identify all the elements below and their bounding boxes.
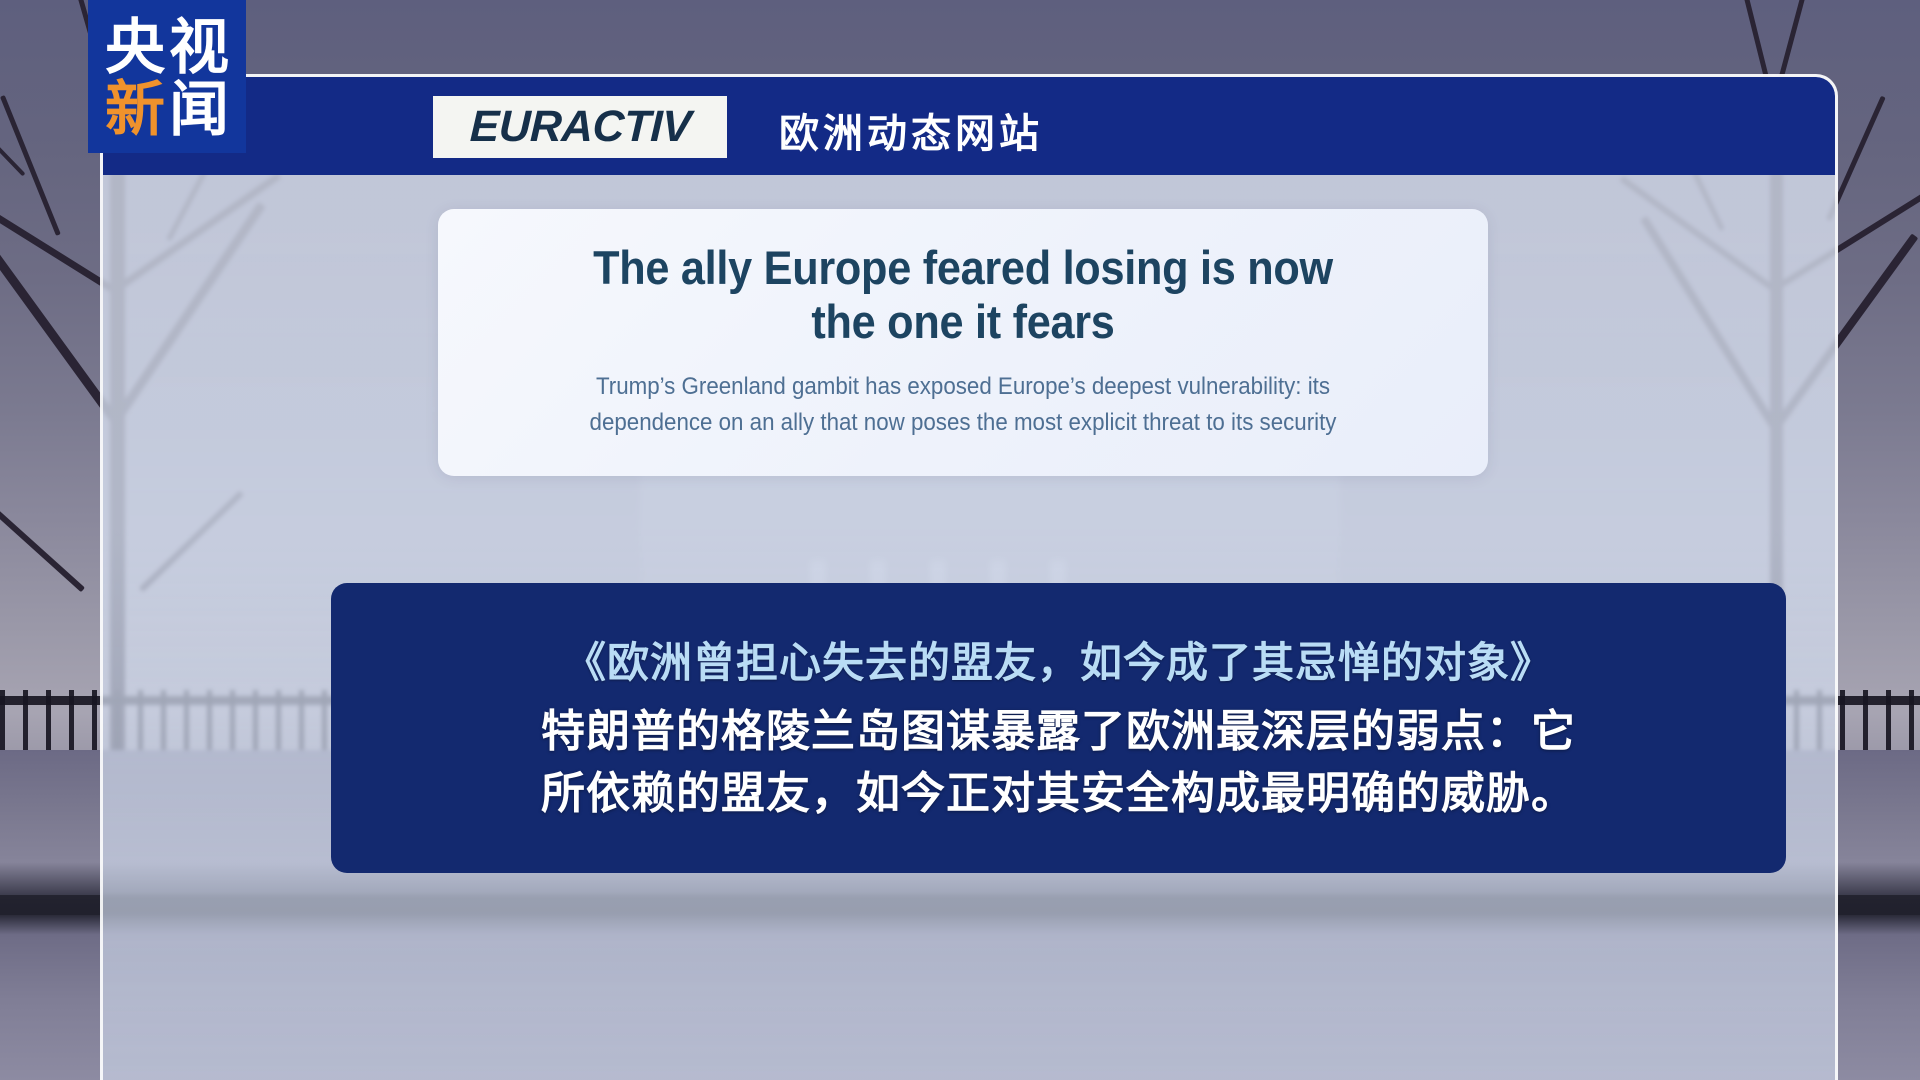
translation-body-line-2: 所依赖的盟友，如今正对其安全构成最明确的威胁。 <box>541 763 1576 825</box>
headline-panel: The ally Europe feared losing is now the… <box>438 209 1488 476</box>
source-label-chinese: 欧洲动态网站 <box>779 101 1043 159</box>
card-header-bar: EURACTIV 欧洲动态网站 <box>103 77 1835 175</box>
cctv-news-logo: 央 视 新 闻 <box>88 0 246 153</box>
cctv-glyph-xin: 新 <box>105 80 165 140</box>
cctv-glyph-shi: 视 <box>169 18 229 78</box>
article-headline-english: The ally Europe feared losing is now the… <box>558 241 1368 348</box>
euractiv-logo: EURACTIV <box>433 96 727 158</box>
translation-box: 《欧洲曾担心失去的盟友，如今成了其忌惮的对象》 特朗普的格陵兰岛图谋暴露了欧洲最… <box>331 583 1786 873</box>
translation-body-line-1: 特朗普的格陵兰岛图谋暴露了欧洲最深层的弱点：它 <box>541 701 1576 763</box>
article-subhead-english: Trump’s Greenland gambit has exposed Eur… <box>545 369 1382 442</box>
translation-title-chinese: 《欧洲曾担心失去的盟友，如今成了其忌惮的对象》 <box>564 636 1553 690</box>
cctv-logo-line-2: 新 闻 <box>105 80 229 140</box>
news-card: EURACTIV 欧洲动态网站 The ally Europe feared l… <box>100 74 1838 1080</box>
euractiv-wordmark: EURACTIV <box>469 102 692 152</box>
news-graphic-stage: EURACTIV 欧洲动态网站 The ally Europe feared l… <box>0 0 1920 1080</box>
cctv-glyph-yang: 央 <box>105 18 165 78</box>
cctv-logo-line-1: 央 视 <box>105 18 229 78</box>
cctv-glyph-wen: 闻 <box>169 80 229 140</box>
